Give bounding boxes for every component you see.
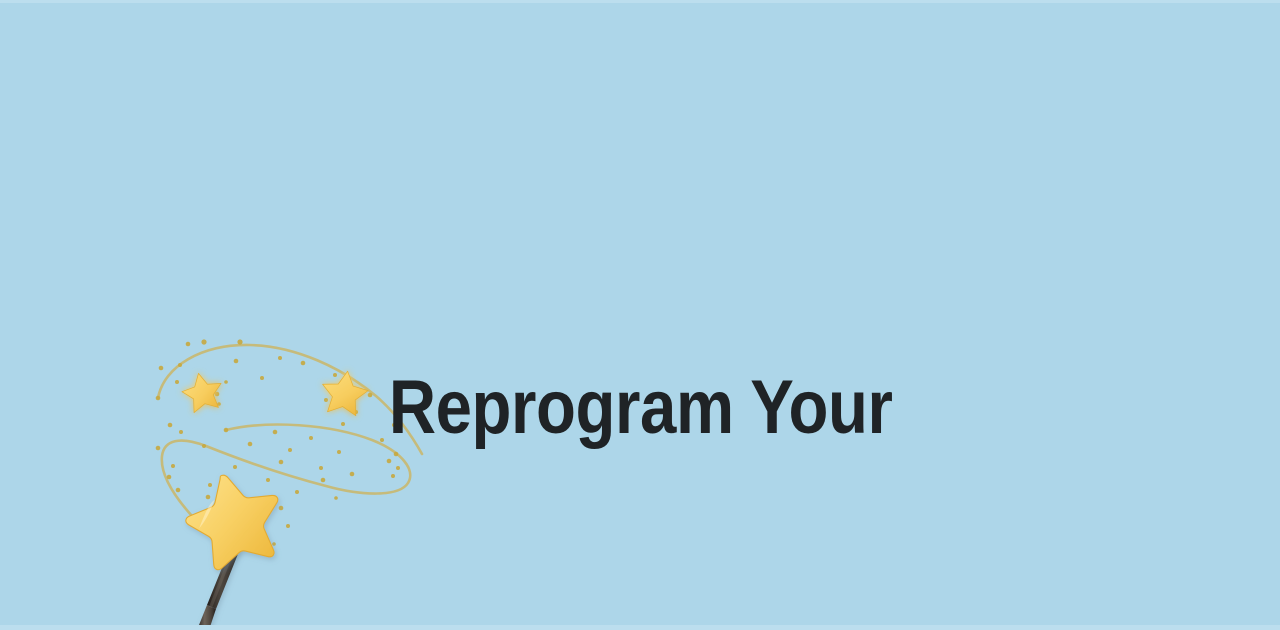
bottom-edge-band — [0, 625, 1280, 630]
title-line-1: Reprogram Your — [90, 362, 1191, 454]
page-title: Reprogram Your Mind for Success — [90, 178, 1191, 630]
poster-canvas: Reprogram Your Mind for Success — [0, 0, 1280, 630]
top-edge-band — [0, 0, 1280, 3]
